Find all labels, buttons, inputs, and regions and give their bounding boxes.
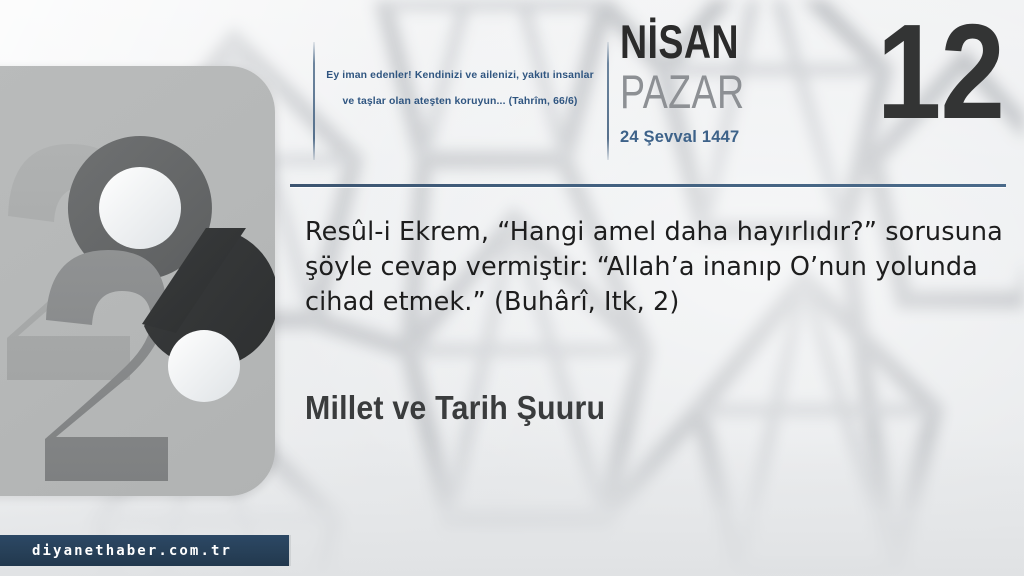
quote-line-1: Resûl-i Ekrem, “Hangi amel daha hayırlıd… xyxy=(305,215,955,250)
year-2026-logo-icon xyxy=(0,66,275,496)
day-number: 12 xyxy=(877,4,1004,139)
hadith-quote: Resûl-i Ekrem, “Hangi amel daha hayırlıd… xyxy=(305,215,955,320)
headline: Millet ve Tarih Şuuru xyxy=(305,389,605,427)
website-url[interactable]: diyanethaber.com.tr xyxy=(32,543,232,559)
quote-line-3: cihad etmek.” (Buhârî, Itk, 2) xyxy=(305,285,955,320)
month-label: NİSAN xyxy=(620,18,745,65)
verse-line-1: Ey iman edenler! Kendinizi ve ailenizi, … xyxy=(325,63,595,89)
verse-text: Ey iman edenler! Kendinizi ve ailenizi, … xyxy=(325,63,595,115)
verse-block: Ey iman edenler! Kendinizi ve ailenizi, … xyxy=(313,42,607,160)
verse-left-rule xyxy=(313,42,315,160)
horizontal-divider xyxy=(290,184,1006,187)
quote-line-2: şöyle cevap vermiştir: “Allah’a inanıp O… xyxy=(305,250,955,285)
year-logo-panel xyxy=(0,66,275,496)
hijri-date-label: 24 Şevval 1447 xyxy=(620,128,776,147)
date-block: NİSAN PAZAR 24 Şevval 1447 xyxy=(620,18,776,147)
footer-bar: diyanethaber.com.tr xyxy=(0,535,291,566)
verse-line-2: ve taşlar olan ateşten koruyun... (Tahrî… xyxy=(325,89,595,115)
verse-right-rule xyxy=(607,42,609,160)
weekday-label: PAZAR xyxy=(620,67,745,116)
calendar-page: Ey iman edenler! Kendinizi ve ailenizi, … xyxy=(0,0,1024,576)
